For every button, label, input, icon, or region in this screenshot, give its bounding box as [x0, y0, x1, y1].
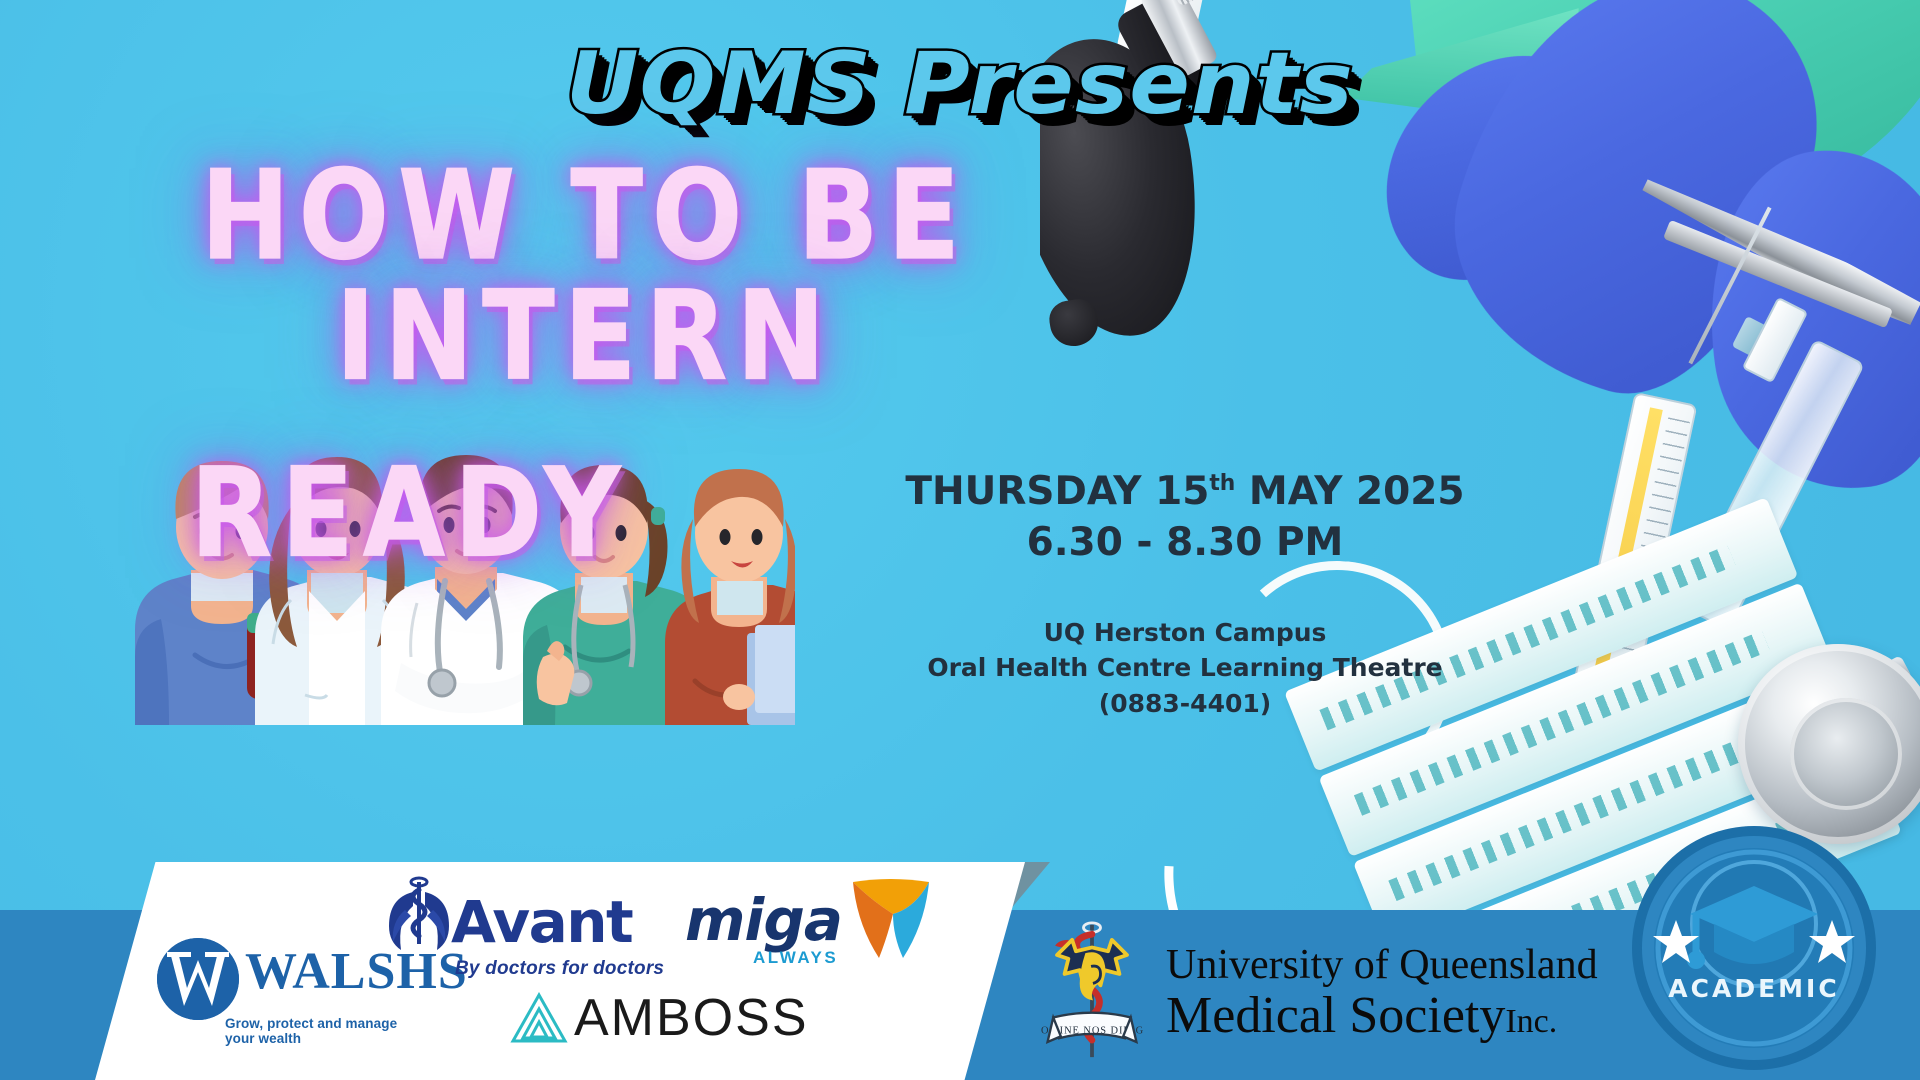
walshs-mark-icon [157, 938, 239, 1020]
avant-wordmark: Avant [451, 888, 632, 956]
avant-tagline: By doctors for doctors [455, 958, 664, 980]
sponsor-banner: WALSHS Grow, protect and manage your wea… [95, 862, 1025, 1080]
sponsor-logo-amboss[interactable]: AMBOSS [510, 986, 830, 1066]
event-venue: UQ Herston Campus Oral Health Centre Lea… [905, 615, 1465, 722]
society-line-2: Medical SocietyInc. [1166, 990, 1598, 1042]
amboss-triangle-icon [510, 992, 568, 1049]
society-suffix: Inc. [1505, 1003, 1557, 1040]
venue-line-2: Oral Health Centre Learning Theatre [905, 650, 1465, 686]
uqms-society-name: University of Queensland Medical Society… [1166, 944, 1598, 1042]
academic-badge: ACADEMIC [1630, 824, 1878, 1072]
avant-caduceus-icon [383, 876, 455, 957]
badge-label: ACADEMIC [1630, 974, 1878, 1003]
uqms-crest-icon: DOMINE NOS DIRIGE [1040, 919, 1144, 1066]
miga-wordmark: miga [685, 886, 842, 954]
miga-triangle-icon [843, 874, 939, 971]
event-date-rest: MAY 2025 [1235, 469, 1464, 514]
event-time: 6.30 - 8.30 PM [905, 520, 1465, 565]
society-line-1: University of Queensland [1166, 944, 1598, 986]
miga-tagline: ALWAYS [753, 948, 838, 968]
venue-line-1: UQ Herston Campus [905, 615, 1465, 651]
sponsor-logo-miga[interactable]: miga ALWAYS [685, 880, 945, 990]
person-clinician-folder [665, 469, 795, 725]
amboss-wordmark: AMBOSS [574, 988, 809, 1048]
event-poster: UQMS Presents HOW TO BE INTERN READY THU… [0, 0, 1920, 1080]
event-date: THURSDAY 15th MAY 2025 [905, 470, 1465, 514]
event-details: THURSDAY 15th MAY 2025 6.30 - 8.30 PM UQ… [905, 470, 1465, 721]
uqms-branding: DOMINE NOS DIRIGE University of Queensla… [1040, 919, 1598, 1066]
venue-room-code: (0883-4401) [905, 686, 1465, 722]
title-line-1: HOW TO BE INTERN [0, 157, 1192, 397]
walshs-tagline: Grow, protect and manage your wealth [225, 1016, 415, 1046]
event-date-ordinal: th [1209, 471, 1235, 496]
medical-team-illustration [95, 395, 795, 725]
sponsor-logo-avant[interactable]: Avant By doctors for doctors [383, 874, 683, 994]
event-date-prefix: THURSDAY 15 [905, 469, 1209, 514]
stethoscope-diaphragm-icon [1790, 698, 1902, 810]
society-line-2-main: Medical Society [1166, 987, 1505, 1044]
